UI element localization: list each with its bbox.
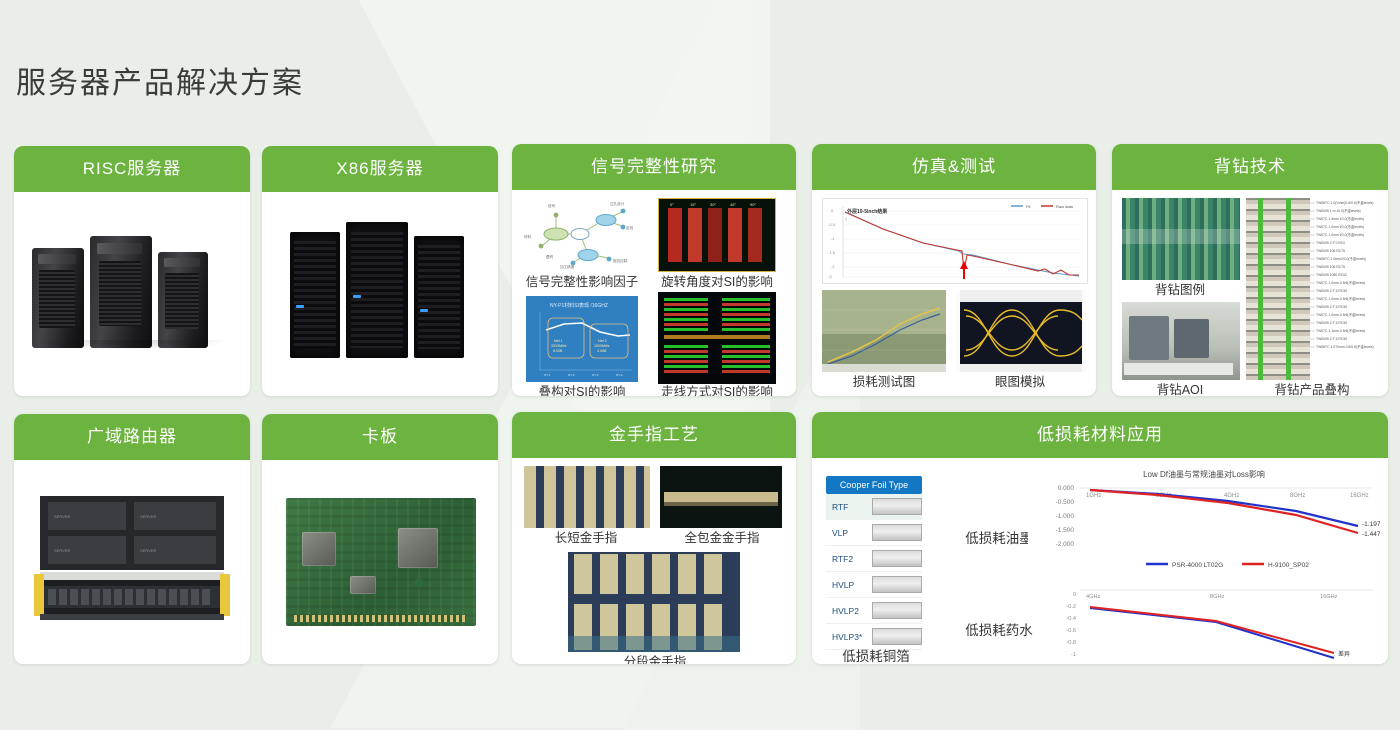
low-df-legend-red: H-9100_SP02 (1268, 562, 1309, 569)
svg-text:-0.8: -0.8 (1066, 640, 1076, 646)
svg-text:0: 0 (1073, 592, 1076, 598)
card-card-board[interactable]: 卡板 (262, 414, 498, 664)
backdrill-caption-2: 背钻AOI (1118, 384, 1242, 396)
svg-text:TW0005 2 F 0 RC0: TW0005 2 F 0 RC0 (1316, 241, 1345, 245)
backdrill-aoi-photo (1122, 302, 1240, 380)
card-backdrill[interactable]: 背钻技术 背钻图例 背钻AOI TW08TC 1.0(Vmm)0.6/0.6(不… (1112, 144, 1388, 396)
svg-text:8GHz: 8GHz (1210, 594, 1225, 600)
risc-server-photo (32, 230, 232, 350)
card-risc-server[interactable]: RISC服务器 (14, 146, 250, 396)
svg-text:加工精度: 加工精度 (560, 264, 575, 269)
card-simulation-test[interactable]: 仿真&测试 外层10-5inch结果 0-0.5-1 -1.5-2-3 (812, 144, 1096, 396)
svg-text:TW07C 1.0mm-0.5/6(不金levels): TW07C 1.0mm-0.5/6(不金levels) (1316, 312, 1365, 317)
svg-text:TW07C 1.0mm-0.5/6(不金levels): TW07C 1.0mm-0.5/6(不金levels) (1316, 280, 1365, 285)
card-wan-router[interactable]: 广域路由器 SERVERSERVER SERVERSERVER (14, 414, 250, 664)
chart-title-text: 外层10-5inch结果 (847, 208, 888, 215)
table-row[interactable]: RTF (826, 494, 922, 520)
svg-text:TW0005 2 F 6 RC50: TW0005 2 F 6 RC50 (1316, 321, 1347, 325)
si-caption-4: 走线方式对SI的影响 (654, 386, 780, 396)
svg-text:90°: 90° (750, 202, 756, 207)
card-title-gold-finger: 金手指工艺 (512, 412, 796, 458)
svg-text:-1: -1 (1071, 652, 1076, 658)
copper-foil-table-header: Cooper Foil Type (826, 476, 922, 494)
svg-text:NY-4: NY-4 (616, 373, 623, 377)
svg-text:8GHz: 8GHz (1290, 493, 1305, 499)
card-title-low-loss-material: 低损耗材料应用 (812, 412, 1388, 458)
card-title-simulation-test: 仿真&测试 (812, 144, 1096, 190)
svg-text:1000Mil/s: 1000Mil/s (594, 344, 610, 348)
legend-rawdata-label: Raw data (1056, 204, 1074, 209)
svg-text:0°: 0° (670, 202, 674, 207)
low-df-endlabel-red: -1.447 (1362, 531, 1380, 538)
backdrill-caption-3: 背钻产品叠构 (1242, 384, 1382, 396)
svg-text:TW08TC 1.0mm2/0.0(不金levels): TW08TC 1.0mm2/0.0(不金levels) (1316, 256, 1366, 261)
si-caption-2: 旋转角度对SI的影响 (656, 276, 778, 290)
si-caption-3: 叠构对SI的影响 (516, 386, 648, 396)
svg-text:0.000: 0.000 (1058, 485, 1075, 492)
svg-text:过孔设计: 过孔设计 (610, 201, 625, 206)
svg-text:8.02B: 8.02B (553, 349, 563, 353)
si-factor-diagram: 信号材料叠构 过孔设计走线 阻抗控制加工精度 (518, 198, 646, 272)
svg-text:4.06B: 4.06B (597, 349, 607, 353)
card-body-low-loss-material: Cooper Foil Type RTF VLP RTF2 HVLP HVLP2 (812, 458, 1388, 664)
backdrill-stackup-photo: TW08TC 1.0(Vmm)0.6/0.6(不金levels) TW0005 … (1246, 198, 1382, 380)
table-cell-image (872, 576, 922, 593)
svg-text:TW07C 1.0mm I/0.0(不金levels): TW07C 1.0mm I/0.0(不金levels) (1316, 224, 1364, 229)
card-title-card-board: 卡板 (262, 414, 498, 460)
backdrill-sample-photo (1122, 198, 1240, 280)
svg-text:1GHz: 1GHz (1086, 493, 1101, 499)
svg-text:-0.500: -0.500 (1056, 499, 1075, 506)
table-cell-type: HVLP3* (826, 632, 872, 642)
card-title-x86-server: X86服务器 (262, 146, 498, 192)
low-loss-chemistry-chart: 0-0.2-0.4 -0.6-0.8-1-1.2 4GHz8GHz16GHz 差… (1052, 574, 1382, 664)
table-row[interactable]: VLP (826, 520, 922, 546)
card-body-signal-integrity: 信号材料叠构 过孔设计走线 阻抗控制加工精度 (512, 190, 796, 396)
card-body-wan-router: SERVERSERVER SERVERSERVER (14, 460, 250, 664)
low-df-legend-blue: PSR-4000 LT02G (1172, 562, 1223, 569)
svg-text:TW0005 106 RC75: TW0005 106 RC75 (1316, 249, 1345, 253)
svg-text:Net 2: Net 2 (598, 339, 607, 343)
low-df-endlabel-blue: -1.197 (1362, 521, 1380, 528)
card-body-card-board (262, 460, 498, 664)
svg-text:材料: 材料 (524, 234, 532, 239)
svg-text:Net 1: Net 1 (554, 339, 563, 343)
table-cell-image (872, 628, 922, 645)
svg-text:-1.000: -1.000 (1056, 513, 1075, 520)
svg-text:16GHz: 16GHz (1350, 493, 1369, 499)
svg-text:-0.6: -0.6 (1066, 628, 1076, 634)
si-rotation-photo: 0°15°30° 45°90° (658, 198, 776, 272)
svg-text:-0.2: -0.2 (1066, 604, 1076, 610)
gold-finger-photo-3 (568, 552, 740, 652)
page-title: 服务器产品解决方案 (16, 58, 304, 102)
wan-router-photo: SERVERSERVER SERVERSERVER (30, 490, 234, 630)
svg-text:4GHz: 4GHz (1224, 493, 1239, 499)
low-loss-caption-copper: 低损耗铜箔 (818, 650, 934, 664)
svg-text:-1.5: -1.5 (828, 250, 836, 255)
svg-text:TW08TC 1.0(Vmm)0.6/0.6(不金level: TW08TC 1.0(Vmm)0.6/0.6(不金levels) (1316, 200, 1373, 205)
si-stackup-chart: NY-P1材料SI表现 /16GHZ Net 13333Mil/s8.02B N… (526, 296, 638, 382)
table-cell-type: VLP (826, 528, 872, 538)
svg-text:16GHz: 16GHz (1320, 594, 1338, 600)
card-title-signal-integrity: 信号完整性研究 (512, 144, 796, 190)
svg-text:-2.000: -2.000 (1056, 541, 1075, 548)
svg-text:SERVER: SERVER (54, 548, 70, 553)
table-row[interactable]: RTF2 (826, 546, 922, 572)
svg-text:TW07C 1.1mm-0.5/6(不金levels): TW07C 1.1mm-0.5/6(不金levels) (1316, 328, 1365, 333)
backdrill-caption-1: 背钻图例 (1118, 284, 1242, 298)
table-cell-image (872, 524, 922, 541)
table-row[interactable]: HVLP (826, 572, 922, 598)
card-body-risc-server (14, 192, 250, 396)
svg-text:信号: 信号 (548, 203, 556, 208)
table-row[interactable]: HVLP2 (826, 598, 922, 624)
table-cell-type: HVLP2 (826, 606, 872, 616)
gold-finger-photo-1 (524, 466, 650, 528)
svg-text:TW0005 1 m 10.0(不金levels): TW0005 1 m 10.0(不金levels) (1316, 208, 1361, 213)
svg-text:4GHz: 4GHz (1086, 594, 1101, 600)
si-caption-1: 信号完整性影响因子 (516, 276, 648, 290)
svg-text:TW0005 2 F 6 RC50: TW0005 2 F 6 RC50 (1316, 289, 1347, 293)
eye-diagram-photo (956, 290, 1086, 372)
card-body-x86-server (262, 192, 498, 396)
svg-text:SERVER: SERVER (140, 548, 156, 553)
copper-foil-table[interactable]: Cooper Foil Type RTF VLP RTF2 HVLP HVLP2 (826, 476, 922, 650)
card-title-backdrill: 背钻技术 (1112, 144, 1388, 190)
svg-text:SERVER: SERVER (140, 514, 156, 519)
svg-text:TW07C 1.5mm 10.0(不金levels): TW07C 1.5mm 10.0(不金levels) (1316, 216, 1364, 221)
card-title-risc-server: RISC服务器 (14, 146, 250, 192)
card-signal-integrity[interactable]: 信号完整性研究 信号材料叠构 过孔设计走线 (512, 144, 796, 396)
card-title-wan-router: 广域路由器 (14, 414, 250, 460)
table-cell-image (872, 498, 922, 515)
gold-caption-3: 分段金手指 (572, 656, 738, 664)
svg-text:NY-P1材料SI表现 /16GHZ: NY-P1材料SI表现 /16GHZ (550, 302, 608, 309)
svg-text:45°: 45° (730, 202, 736, 207)
table-cell-type: RTF (826, 502, 872, 512)
gold-finger-photo-2 (660, 466, 782, 528)
gold-caption-1: 长短金手指 (520, 532, 652, 546)
svg-text:-1.500: -1.500 (1056, 527, 1075, 534)
slide-page: 服务器产品解决方案 RISC服务器 X86服务器 (0, 0, 1400, 728)
card-gold-finger[interactable]: 金手指工艺 长短金手指 全包金金手指 (512, 412, 796, 664)
svg-text:3333Mil/s: 3333Mil/s (551, 344, 567, 348)
low-df-ink-chart: Low Df油墨与常规油墨对Loss影响 0.000-0.500 -1.000-… (1028, 464, 1380, 576)
svg-text:TW07C 1.0mm I/0.0(不金levels): TW07C 1.0mm I/0.0(不金levels) (1316, 232, 1364, 237)
card-body-backdrill: 背钻图例 背钻AOI TW08TC 1.0(Vmm)0.6/0.6(不金leve… (1112, 190, 1388, 396)
svg-text:15°: 15° (690, 202, 696, 207)
card-x86-server[interactable]: X86服务器 (262, 146, 498, 396)
svg-text:叠构: 叠构 (546, 254, 554, 259)
svg-text:TW0005 2 F 6 RC50: TW0005 2 F 6 RC50 (1316, 337, 1347, 341)
loss-test-photo (822, 290, 946, 372)
card-body-simulation-test: 外层10-5inch结果 0-0.5-1 -1.5-2-3 (812, 190, 1096, 396)
svg-text:-0.5: -0.5 (828, 222, 836, 227)
si-routing-photo (658, 292, 776, 384)
gold-caption-2: 全包金金手指 (658, 532, 786, 546)
svg-text:TW0005 1080 RC02: TW0005 1080 RC02 (1316, 273, 1347, 277)
svg-text:NY-2: NY-2 (568, 373, 575, 377)
svg-text:走线: 走线 (626, 225, 634, 230)
svg-text:TW08TC 1.070mm 0.5/0.6(不金level: TW08TC 1.070mm 0.5/0.6(不金levels) (1316, 344, 1374, 349)
svg-text:-0.4: -0.4 (1066, 616, 1076, 622)
svg-text:NY-1: NY-1 (544, 373, 551, 377)
svg-text:差异: 差异 (1338, 650, 1350, 658)
svg-text:SERVER: SERVER (54, 514, 70, 519)
table-cell-image (872, 550, 922, 567)
svg-text:TW0005 106 RC75: TW0005 106 RC75 (1316, 265, 1345, 269)
table-cell-type: RTF2 (826, 554, 872, 564)
svg-text:TW07C 1.0mm-0.5/6(不金levels): TW07C 1.0mm-0.5/6(不金levels) (1316, 296, 1365, 301)
card-board-photo (286, 498, 476, 626)
table-row[interactable]: HVLP3* (826, 624, 922, 650)
low-loss-caption-chemistry: 低损耗药水 (946, 624, 1052, 639)
svg-text:30°: 30° (710, 202, 716, 207)
table-cell-image (872, 602, 922, 619)
x86-server-photo (286, 222, 476, 360)
card-body-gold-finger: 长短金手指 全包金金手指 分段金手指 (512, 458, 796, 664)
svg-text:TW0005 2 F 6 RC50: TW0005 2 F 6 RC50 (1316, 305, 1347, 309)
sim-caption-2: 眼图模拟 (954, 376, 1086, 390)
svg-text:阻抗控制: 阻抗控制 (613, 258, 628, 263)
card-low-loss-material[interactable]: 低损耗材料应用 Cooper Foil Type RTF VLP RTF2 HV… (812, 412, 1388, 664)
insertion-loss-chart: 外层10-5inch结果 0-0.5-1 -1.5-2-3 (822, 198, 1088, 284)
svg-text:NY-3: NY-3 (592, 373, 599, 377)
low-df-chart-title: Low Df油墨与常规油墨对Loss影响 (1143, 469, 1265, 479)
sim-caption-1: 损耗测试图 (820, 376, 948, 390)
svg-text:0.1: 0.1 (844, 217, 848, 221)
table-cell-type: HVLP (826, 580, 872, 590)
